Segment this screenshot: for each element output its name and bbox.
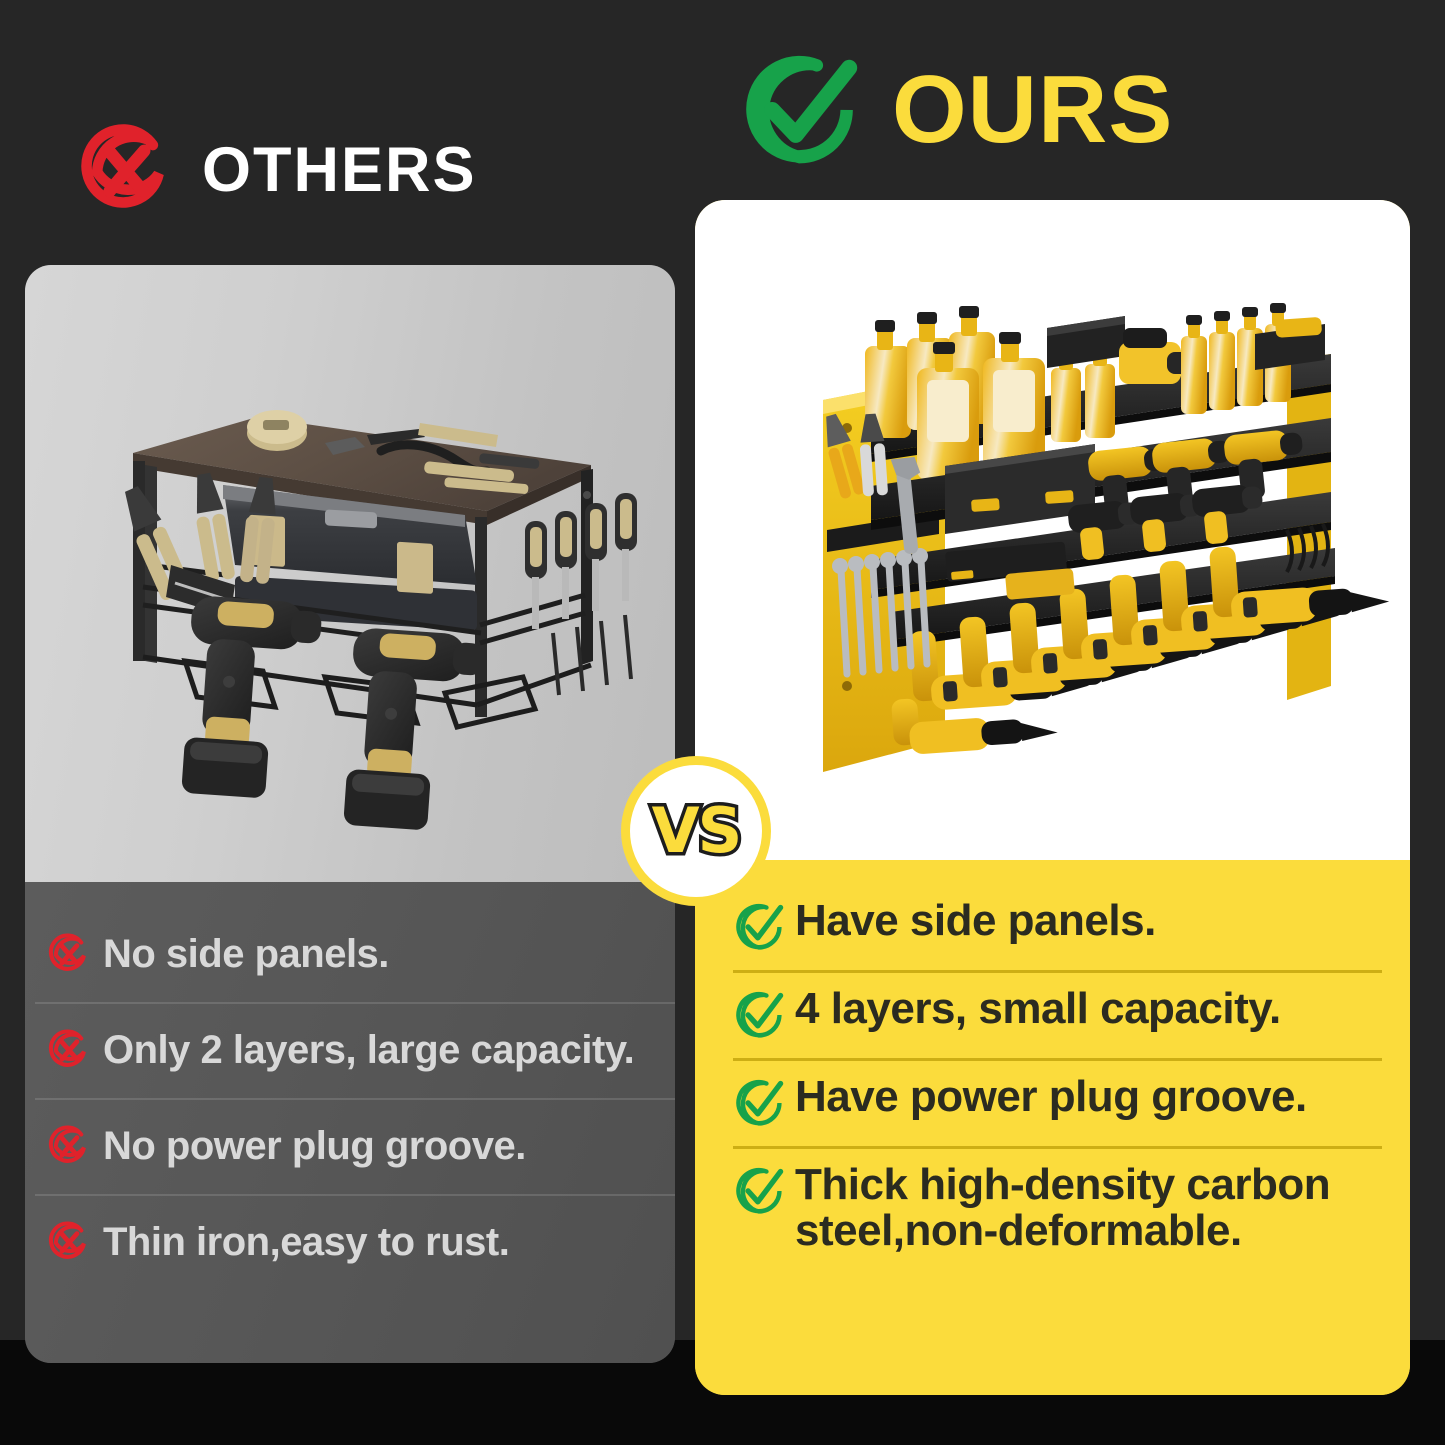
circle-check-icon: [733, 988, 787, 1042]
list-item: No side panels.: [25, 906, 675, 1002]
list-item: Thin iron,easy to rust.: [25, 1194, 675, 1290]
list-item-label: Thin iron,easy to rust.: [103, 1220, 509, 1265]
list-item-label: Thick high-density carbon steel,non-defo…: [795, 1162, 1390, 1254]
list-item-label: No power plug groove.: [103, 1124, 526, 1169]
circle-check-icon: [740, 48, 864, 172]
ours-card: Have side panels. 4 layers, small capaci…: [695, 200, 1410, 1395]
ours-product-image: [695, 200, 1410, 860]
list-item-label: Have side panels.: [795, 898, 1156, 944]
list-item: Thick high-density carbon steel,non-defo…: [695, 1146, 1410, 1270]
list-item-label: Only 2 layers, large capacity.: [103, 1028, 634, 1073]
circle-x-icon: [47, 1124, 91, 1168]
list-item: Only 2 layers, large capacity.: [25, 1002, 675, 1098]
circle-x-icon: [47, 1028, 91, 1072]
list-item: Have side panels.: [695, 882, 1410, 970]
circle-x-icon: [78, 122, 174, 218]
comparison-infographic: OTHERS OURS: [0, 0, 1445, 1445]
others-product-illustration: [25, 265, 675, 882]
circle-check-icon: [733, 1164, 787, 1218]
others-card: No side panels. Only 2 layers, large cap…: [25, 265, 675, 1363]
list-item: No power plug groove.: [25, 1098, 675, 1194]
circle-check-icon: [733, 1076, 787, 1130]
circle-x-icon: [47, 932, 91, 976]
list-item-label: Have power plug groove.: [795, 1074, 1307, 1120]
others-header-label: OTHERS: [202, 139, 477, 202]
others-header: OTHERS: [78, 122, 477, 218]
list-item-label: 4 layers, small capacity.: [795, 986, 1281, 1032]
vs-badge-label: VS: [652, 800, 741, 862]
vs-badge: VS: [621, 756, 771, 906]
others-feature-list: No side panels. Only 2 layers, large cap…: [25, 882, 675, 1363]
list-item: Have power plug groove.: [695, 1058, 1410, 1146]
list-item: 4 layers, small capacity.: [695, 970, 1410, 1058]
circle-check-icon: [733, 900, 787, 954]
ours-feature-list: Have side panels. 4 layers, small capaci…: [695, 860, 1410, 1395]
ours-header: OURS: [740, 48, 1173, 172]
list-item-label: No side panels.: [103, 932, 389, 977]
others-product-image: [25, 265, 675, 882]
ours-product-illustration: [695, 200, 1410, 860]
circle-x-icon: [47, 1220, 91, 1264]
ours-header-label: OURS: [892, 62, 1173, 158]
